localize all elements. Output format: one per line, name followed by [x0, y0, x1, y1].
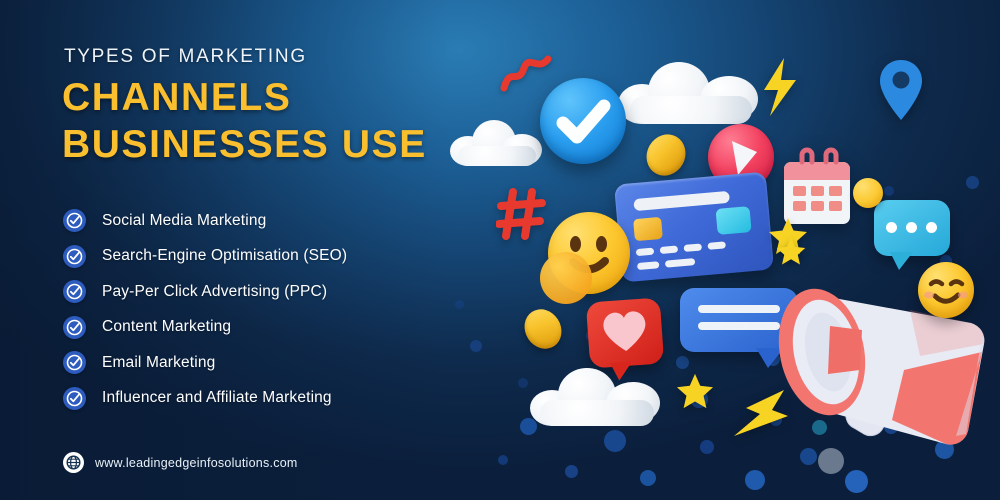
- check-circle-icon: [63, 316, 86, 339]
- star-icon: [676, 372, 714, 410]
- check-circle-icon: [540, 78, 626, 164]
- heart-notification-icon: [586, 297, 664, 368]
- gold-coin-icon: [643, 129, 689, 181]
- illustration-collage: [440, 0, 1000, 500]
- credit-card-icon: [614, 172, 774, 283]
- sphere-icon: [853, 178, 883, 208]
- footer-website[interactable]: www.leadingedgeinfosolutions.com: [63, 452, 298, 473]
- list-item: Pay-Per Click Advertising (PPC): [63, 274, 463, 310]
- location-pin-icon: [878, 58, 924, 124]
- marketing-banner: TYPES OF MARKETING CHANNELS BUSINESSES U…: [0, 0, 1000, 500]
- list-item-label: Search-Engine Optimisation (SEO): [102, 247, 347, 265]
- list-item-label: Content Marketing: [102, 318, 231, 336]
- headline-line-1: CHANNELS: [62, 74, 462, 121]
- list-item-label: Influencer and Affiliate Marketing: [102, 389, 332, 407]
- star-icon: [776, 236, 806, 266]
- cloud-icon: [450, 118, 542, 166]
- hashtag-icon: [496, 186, 548, 242]
- check-circle-icon: [63, 245, 86, 268]
- channel-list: Social Media Marketing Search-Engine Opt…: [63, 203, 463, 416]
- list-item: Content Marketing: [63, 310, 463, 346]
- website-url: www.leadingedgeinfosolutions.com: [95, 456, 298, 470]
- lightning-bolt-icon: [756, 56, 804, 118]
- list-item: Search-Engine Optimisation (SEO): [63, 239, 463, 275]
- headline-line-2: BUSINESSES USE: [62, 121, 462, 168]
- check-circle-icon: [63, 351, 86, 374]
- gold-coin-icon: [540, 252, 592, 304]
- text-column: TYPES OF MARKETING CHANNELS BUSINESSES U…: [0, 0, 460, 500]
- winking-emoji-icon: [918, 262, 974, 318]
- cloud-icon: [530, 368, 662, 426]
- list-item: Social Media Marketing: [63, 203, 463, 239]
- list-item: Influencer and Affiliate Marketing: [63, 381, 463, 417]
- check-circle-icon: [63, 387, 86, 410]
- list-item-label: Social Media Marketing: [102, 212, 266, 230]
- check-circle-icon: [63, 280, 86, 303]
- list-item: Email Marketing: [63, 345, 463, 381]
- eyebrow-text: TYPES OF MARKETING: [64, 46, 307, 68]
- check-circle-icon: [63, 209, 86, 232]
- list-item-label: Pay-Per Click Advertising (PPC): [102, 283, 327, 301]
- gold-coin-icon: [522, 305, 564, 353]
- cloud-icon: [618, 60, 760, 124]
- globe-icon: [63, 452, 84, 473]
- list-item-label: Email Marketing: [102, 354, 215, 372]
- page-title: CHANNELS BUSINESSES USE: [62, 74, 462, 168]
